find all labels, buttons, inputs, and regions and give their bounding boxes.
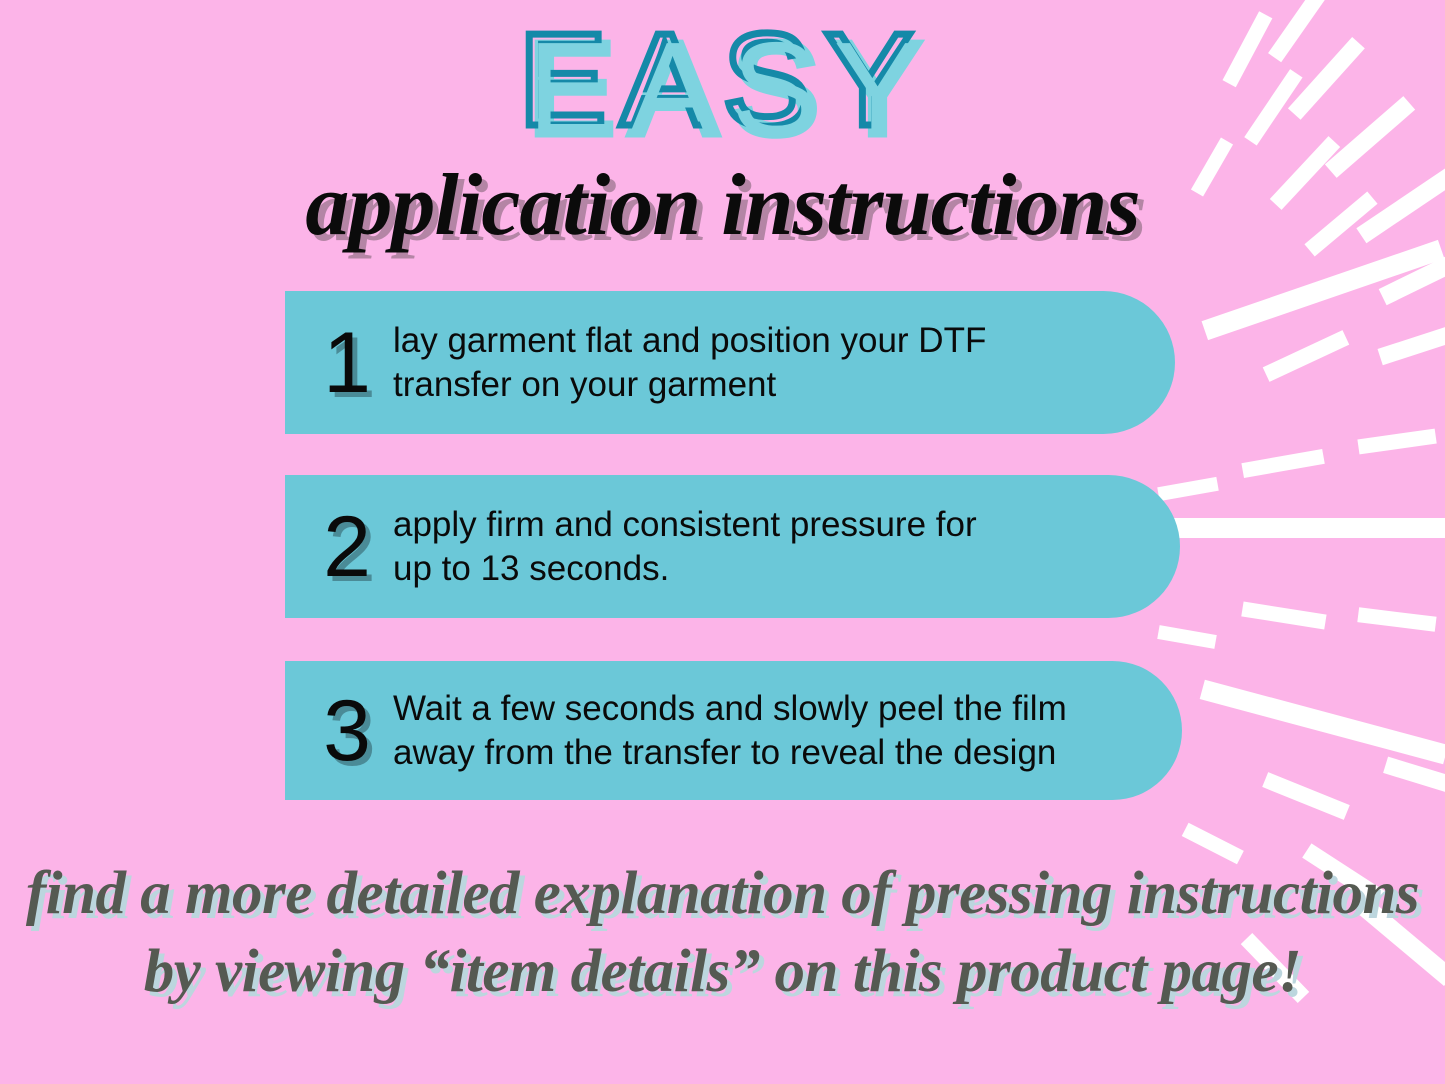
page-subtitle: application instructions: [0, 160, 1445, 252]
page-title: EASY: [518, 14, 926, 146]
step-number-1: 1: [311, 320, 383, 406]
footer-line-1: find a more detailed explanation of pres…: [0, 855, 1445, 933]
step-text-2: apply firm and consistent pressure for u…: [393, 503, 977, 590]
instruction-step-3: 3 Wait a few seconds and slowly peel the…: [285, 661, 1182, 800]
step-text-1: lay garment flat and position your DTF t…: [393, 319, 986, 406]
step-number-3: 3: [311, 688, 383, 774]
step-number-2: 2: [311, 504, 383, 590]
poster-canvas: EASY EASY application instructions 1 lay…: [0, 0, 1445, 1084]
instruction-step-2: 2 apply firm and consistent pressure for…: [285, 475, 1180, 618]
footer-line-2: by viewing “item details” on this produc…: [0, 933, 1445, 1011]
footer-note: find a more detailed explanation of pres…: [0, 855, 1445, 1011]
page-title-wrap: EASY: [0, 14, 1445, 154]
instruction-step-1: 1 lay garment flat and position your DTF…: [285, 291, 1175, 434]
step-text-3: Wait a few seconds and slowly peel the f…: [393, 687, 1067, 774]
